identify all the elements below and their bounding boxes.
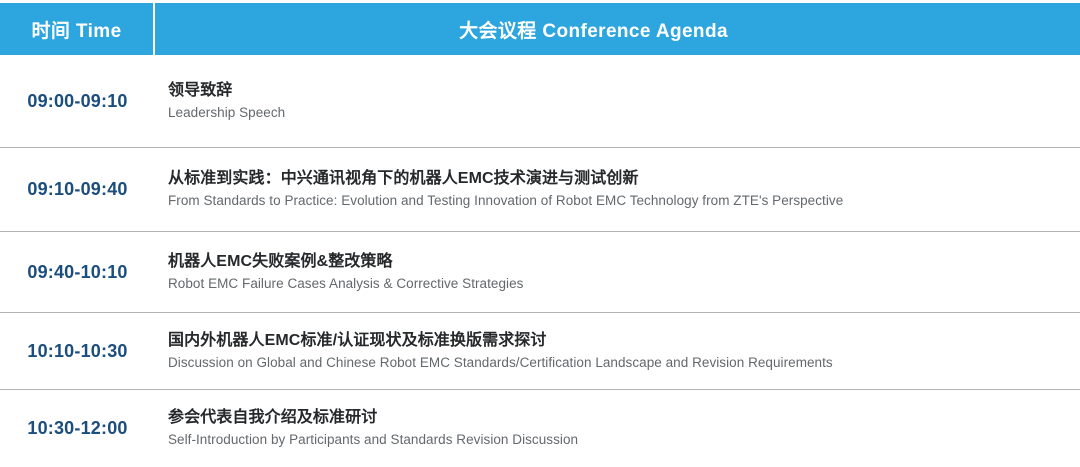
table-row: 10:30-12:00 参会代表自我介绍及标准研讨 Self-Introduct… [0,390,1080,467]
agenda-title-chinese: 从标准到实践：中兴通讯视角下的机器人EMC技术演进与测试创新 [168,167,1060,190]
time-value: 09:40-10:10 [27,262,127,283]
time-value: 10:10-10:30 [27,341,127,362]
agenda-title-english: Self-Introduction by Participants and St… [168,430,1060,450]
table-row: 09:00-09:10 领导致辞 Leadership Speech [0,55,1080,148]
agenda-title-english: Discussion on Global and Chinese Robot E… [168,353,1060,373]
conference-agenda-table: 时间 Time 大会议程 Conference Agenda 09:00-09:… [0,0,1080,467]
table-header-row: 时间 Time 大会议程 Conference Agenda [0,3,1080,55]
agenda-title-chinese: 领导致辞 [168,79,1060,102]
agenda-title-chinese: 机器人EMC失败案例&整改策略 [168,250,1060,273]
table-row: 09:40-10:10 机器人EMC失败案例&整改策略 Robot EMC Fa… [0,232,1080,313]
table-row: 10:10-10:30 国内外机器人EMC标准/认证现状及标准换版需求探讨 Di… [0,313,1080,390]
time-value: 10:30-12:00 [27,418,127,439]
agenda-title-chinese: 参会代表自我介绍及标准研讨 [168,406,1060,429]
agenda-cell: 领导致辞 Leadership Speech [155,79,1080,123]
time-value: 09:10-09:40 [27,179,127,200]
agenda-cell: 参会代表自我介绍及标准研讨 Self-Introduction by Parti… [155,406,1080,450]
time-cell: 10:10-10:30 [0,341,155,362]
time-value: 09:00-09:10 [27,91,127,112]
time-cell: 09:40-10:10 [0,262,155,283]
agenda-cell: 国内外机器人EMC标准/认证现状及标准换版需求探讨 Discussion on … [155,329,1080,373]
agenda-title-chinese: 国内外机器人EMC标准/认证现状及标准换版需求探讨 [168,329,1060,352]
time-cell: 09:10-09:40 [0,179,155,200]
header-cell-time: 时间 Time [0,3,155,55]
agenda-title-english: From Standards to Practice: Evolution an… [168,191,1060,211]
table-row: 09:10-09:40 从标准到实践：中兴通讯视角下的机器人EMC技术演进与测试… [0,148,1080,232]
agenda-cell: 从标准到实践：中兴通讯视角下的机器人EMC技术演进与测试创新 From Stan… [155,167,1080,211]
time-cell: 10:30-12:00 [0,418,155,439]
agenda-cell: 机器人EMC失败案例&整改策略 Robot EMC Failure Cases … [155,250,1080,294]
table-body: 09:00-09:10 领导致辞 Leadership Speech 09:10… [0,55,1080,467]
header-cell-agenda: 大会议程 Conference Agenda [155,3,1080,55]
time-cell: 09:00-09:10 [0,91,155,112]
agenda-title-english: Robot EMC Failure Cases Analysis & Corre… [168,274,1060,294]
agenda-title-english: Leadership Speech [168,103,1060,123]
